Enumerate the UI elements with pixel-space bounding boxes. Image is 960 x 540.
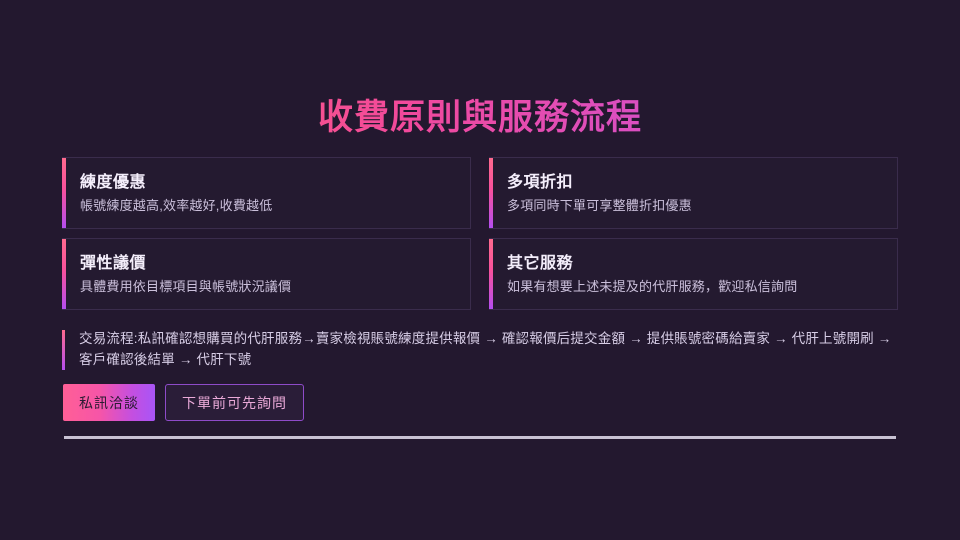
transaction-flow-block: 交易流程:私訊確認想購買的代肝服務→賣家檢視賬號練度提供報價 → 確認報價后提交… (62, 328, 900, 370)
card-title: 其它服務 (507, 253, 881, 274)
pre-order-inquiry-button[interactable]: 下單前可先詢問 (165, 384, 304, 421)
card-title: 多項折扣 (507, 172, 881, 193)
flow-accent-bar (62, 330, 65, 370)
cta-button-group: 私訊洽談 下單前可先詢問 (63, 384, 304, 421)
card-title: 彈性議價 (80, 253, 454, 274)
card-accent-bar (489, 158, 493, 228)
flow-text: 交易流程:私訊確認想購買的代肝服務→賣家檢視賬號練度提供報價 → 確認報價后提交… (79, 328, 900, 370)
feature-card[interactable]: 多項折扣 多項同時下單可享整體折扣優惠 (489, 157, 898, 229)
bottom-divider (64, 436, 896, 439)
feature-card[interactable]: 練度優惠 帳號練度越高,效率越好,收費越低 (62, 157, 471, 229)
card-accent-bar (62, 239, 66, 309)
feature-card[interactable]: 彈性議價 具體費用依目標項目與帳號狀況議價 (62, 238, 471, 310)
card-accent-bar (62, 158, 66, 228)
contact-dm-button[interactable]: 私訊洽談 (63, 384, 155, 421)
slide-root: 收費原則與服務流程 練度優惠 帳號練度越高,效率越好,收費越低 多項折扣 多項同… (0, 0, 960, 540)
card-description: 帳號練度越高,效率越好,收費越低 (80, 196, 454, 215)
card-accent-bar (489, 239, 493, 309)
card-description: 多項同時下單可享整體折扣優惠 (507, 196, 881, 215)
card-title: 練度優惠 (80, 172, 454, 193)
page-title: 收費原則與服務流程 (0, 96, 960, 140)
card-description: 如果有想要上述未提及的代肝服務，歡迎私信詢問 (507, 277, 881, 296)
feature-card[interactable]: 其它服務 如果有想要上述未提及的代肝服務，歡迎私信詢問 (489, 238, 898, 310)
card-description: 具體費用依目標項目與帳號狀況議價 (80, 277, 454, 296)
feature-card-grid: 練度優惠 帳號練度越高,效率越好,收費越低 多項折扣 多項同時下單可享整體折扣優… (62, 157, 898, 310)
